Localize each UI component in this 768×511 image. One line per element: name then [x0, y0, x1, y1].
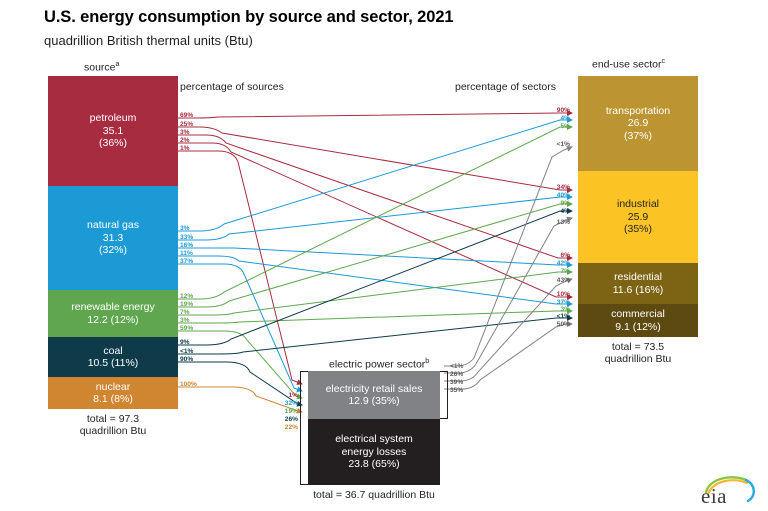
pct-electric-output-2: 39%: [450, 379, 463, 386]
sector-block-industrial[interactable]: industrial 25.9 (35%): [578, 171, 698, 263]
pct-sector-transportation-3: <1%: [532, 141, 570, 148]
pct-source-renewable-2: 7%: [180, 309, 190, 316]
source-label: renewable energy: [71, 301, 154, 313]
source-block-renewable-energy[interactable]: renewable energy 12.2 (12%): [48, 290, 178, 337]
source-block-natural-gas[interactable]: natural gas 31.3 (32%): [48, 186, 178, 290]
pct-sector-industrial-1: 40%: [532, 192, 570, 199]
source-label: nuclear: [96, 381, 130, 393]
source-label: natural gas: [87, 219, 139, 231]
pct-source-petroleum-0: 69%: [180, 112, 193, 119]
pct-electric-output-3: 35%: [450, 387, 463, 394]
sector-share: (35%): [624, 223, 652, 235]
sector-label: transportation: [606, 105, 670, 117]
source-value: 12.2 (12%): [87, 314, 138, 326]
sector-block-transportation[interactable]: transportation 26.9 (37%): [578, 76, 698, 171]
source-label: petroleum: [90, 112, 137, 124]
pct-electric-output-0: <1%: [450, 363, 463, 370]
electric-power-block-retail-sales[interactable]: electricity retail sales 12.9 (35%): [308, 371, 440, 419]
source-value: 31.3: [103, 232, 123, 244]
pct-electric-input-0: 1%: [272, 392, 298, 399]
chart-canvas: U.S. energy consumption by source and se…: [0, 0, 768, 511]
source-total: total = 97.3 quadrillion Btu: [48, 413, 178, 438]
pct-source-coal-2: 90%: [180, 356, 193, 363]
sector-share: (37%): [624, 130, 652, 142]
source-value: 8.1 (8%): [93, 393, 133, 405]
source-share: (32%): [99, 244, 127, 256]
pct-sector-industrial-4: 13%: [532, 219, 570, 226]
electric-power-bracket-left: [300, 371, 308, 485]
pct-sector-commercial-1: 37%: [532, 299, 570, 306]
pct-source-petroleum-3: 2%: [180, 137, 190, 144]
pct-sector-transportation-2: 5%: [532, 123, 570, 130]
electric-label-line1: electrical system: [335, 433, 413, 445]
pct-source-renewable-1: 19%: [180, 301, 193, 308]
pct-source-renewable-0: 12%: [180, 293, 193, 300]
pct-sector-transportation-1: 4%: [532, 115, 570, 122]
electric-power-bracket-right: [440, 371, 448, 419]
sector-label: commercial: [611, 308, 665, 320]
source-block-petroleum[interactable]: petroleum 35.1 (36%): [48, 76, 178, 186]
sector-total-line2: quadrillion Btu: [578, 353, 698, 365]
electric-value: 12.9 (35%): [348, 395, 399, 407]
pct-source-natural-gas-0: 3%: [180, 225, 190, 232]
source-label: coal: [103, 345, 122, 357]
pct-sector-commercial-3: <1%: [532, 313, 570, 320]
pct-electric-input-3: 26%: [272, 416, 298, 423]
pct-electric-input-4: 22%: [272, 424, 298, 431]
pct-source-natural-gas-3: 11%: [180, 250, 193, 257]
sector-total-line1: total = 73.5: [578, 341, 698, 353]
sector-block-commercial[interactable]: commercial 9.1 (12%): [578, 304, 698, 337]
source-total-line1: total = 97.3: [48, 413, 178, 425]
electric-power-total: total = 36.7 quadrillion Btu: [288, 489, 460, 501]
pct-source-renewable-3: 3%: [180, 317, 190, 324]
source-value: 35.1: [103, 125, 123, 137]
sector-label: residential: [614, 271, 662, 283]
electric-label: electricity retail sales: [326, 383, 423, 395]
pct-source-petroleum-4: 1%: [180, 145, 190, 152]
pct-sector-transportation-0: 90%: [532, 107, 570, 114]
source-value: 10.5 (11%): [88, 357, 139, 369]
pct-sector-residential-1: 42%: [532, 260, 570, 267]
pct-source-coal-0: 9%: [180, 339, 190, 346]
pct-source-natural-gas-2: 16%: [180, 242, 193, 249]
electric-label-line2: energy losses: [342, 446, 407, 458]
pct-sector-industrial-2: 9%: [532, 200, 570, 207]
pct-source-petroleum-2: 3%: [180, 129, 190, 136]
pct-electric-input-2: 19%: [272, 408, 298, 415]
pct-source-natural-gas-1: 33%: [180, 234, 193, 241]
source-share: (36%): [99, 137, 127, 149]
electric-value: 23.8 (65%): [348, 458, 399, 470]
pct-electric-input-1: 32%: [272, 400, 298, 407]
pct-source-coal-1: <1%: [180, 348, 193, 355]
sector-label: industrial: [617, 198, 659, 210]
pct-sector-residential-0: 6%: [532, 252, 570, 259]
sector-total: total = 73.5 quadrillion Btu: [578, 341, 698, 366]
pct-sector-commercial-0: 10%: [532, 291, 570, 298]
pct-source-nuclear-0: 100%: [180, 381, 197, 388]
pct-sector-residential-3: 43%: [532, 277, 570, 284]
source-total-line2: quadrillion Btu: [48, 425, 178, 437]
source-block-nuclear[interactable]: nuclear 8.1 (8%): [48, 377, 178, 409]
pct-source-petroleum-1: 25%: [180, 121, 193, 128]
sector-block-residential[interactable]: residential 11.6 (16%): [578, 263, 698, 304]
pct-electric-output-1: 26%: [450, 371, 463, 378]
sector-value: 9.1 (12%): [615, 321, 661, 333]
pct-sector-industrial-0: 34%: [532, 184, 570, 191]
sector-value: 25.9: [628, 211, 648, 223]
sector-value: 11.6 (16%): [613, 284, 664, 296]
pct-sector-residential-2: 7%: [532, 268, 570, 275]
pct-sector-commercial-2: 3%: [532, 306, 570, 313]
pct-source-natural-gas-4: 37%: [180, 258, 193, 265]
pct-sector-industrial-3: 4%: [532, 208, 570, 215]
pct-sector-commercial-4: 50%: [532, 321, 570, 328]
sector-value: 26.9: [628, 117, 648, 129]
electric-power-block-energy-losses[interactable]: electrical system energy losses 23.8 (65…: [308, 419, 440, 485]
eia-logo-text: eia: [701, 484, 727, 509]
pct-source-renewable-4: 59%: [180, 325, 193, 332]
source-block-coal[interactable]: coal 10.5 (11%): [48, 337, 178, 377]
